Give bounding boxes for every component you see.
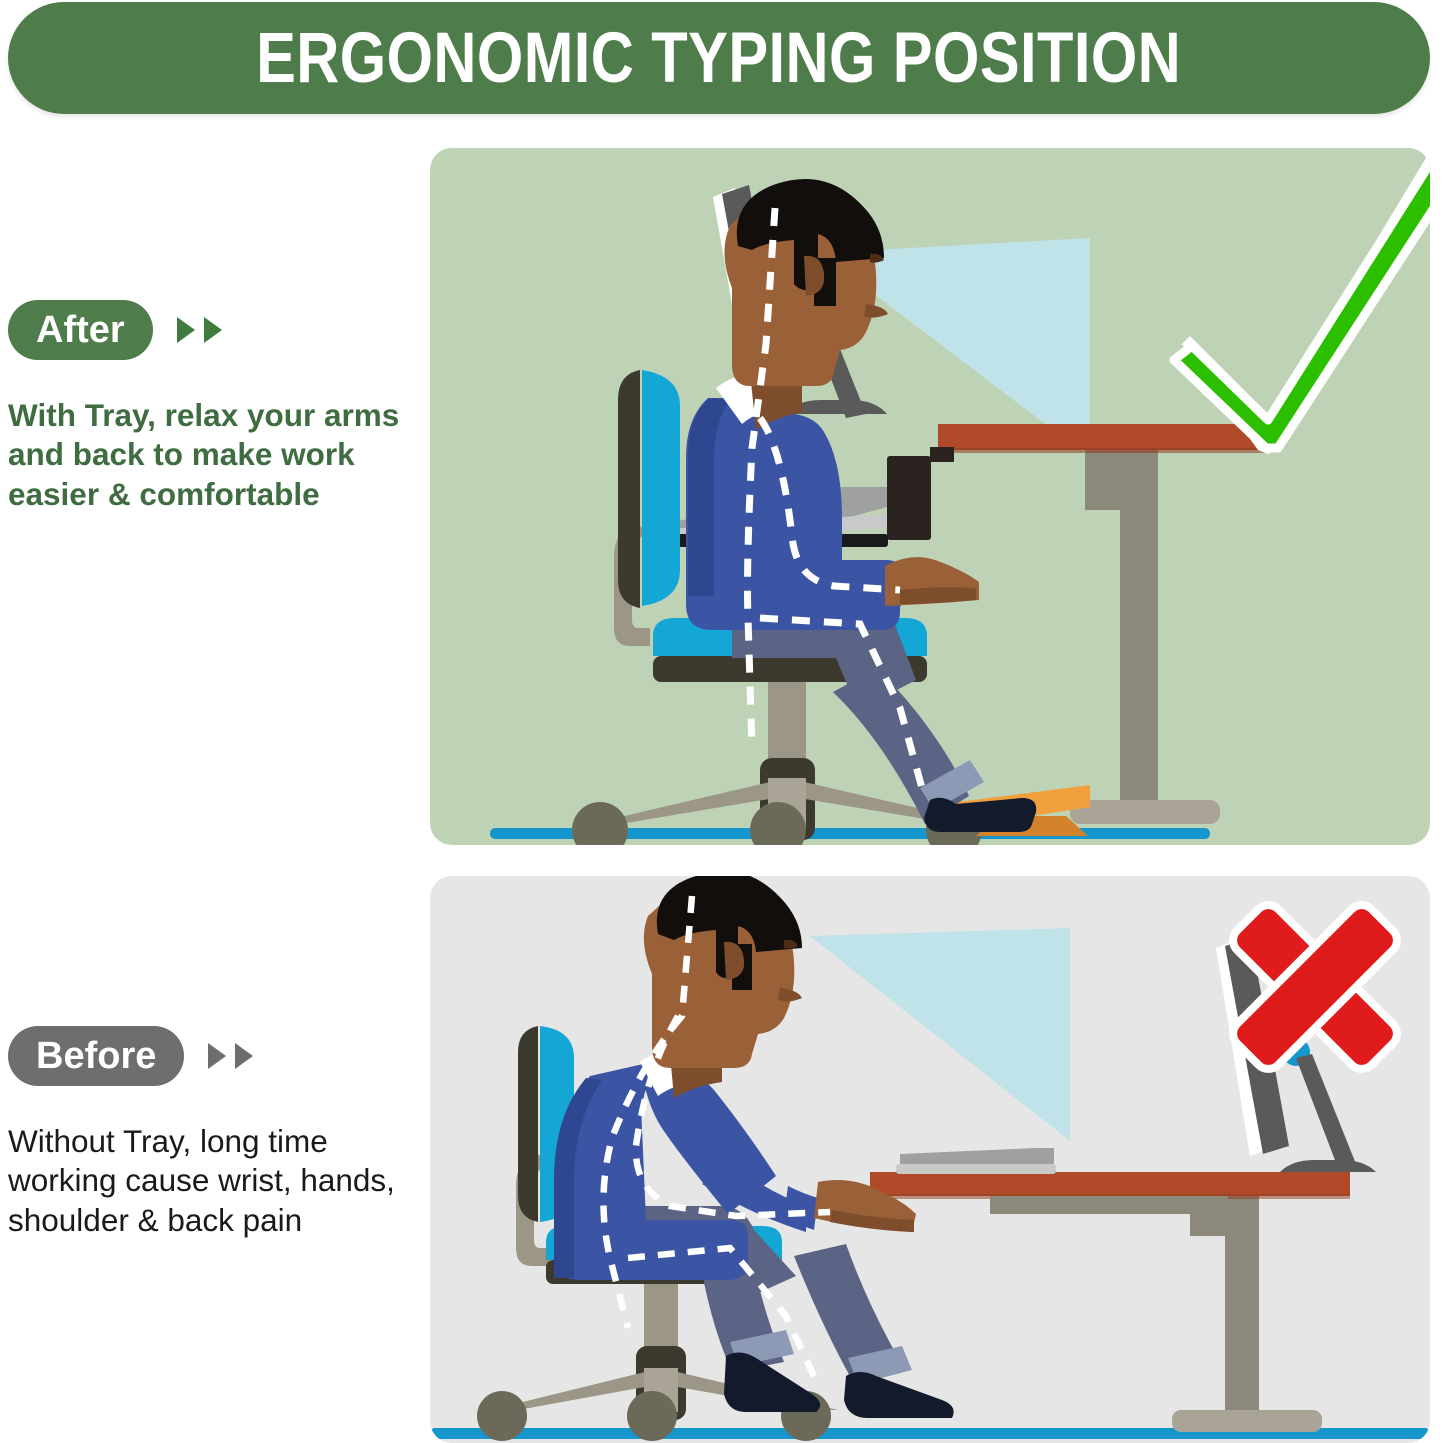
double-triangle-right-icon: [175, 315, 224, 345]
caster-left: [572, 802, 628, 845]
after-description: With Tray, relax your arms and back to m…: [8, 396, 426, 514]
desk-foot: [1070, 800, 1220, 824]
vision-cone: [810, 928, 1070, 1141]
desk-apron: [990, 1196, 1228, 1214]
chair-back-edge: [518, 1026, 538, 1222]
desk-leg-column: [1225, 1196, 1259, 1418]
before-badge: Before: [8, 1026, 184, 1086]
green-check-icon: [1174, 148, 1430, 454]
fingers: [900, 587, 976, 604]
tray-bracket: [930, 447, 954, 462]
desk-top-shadow: [938, 448, 1268, 453]
keyboard-base: [896, 1164, 1056, 1174]
double-triangle-right-icon: [206, 1041, 255, 1071]
check-mark: [1174, 154, 1430, 448]
page-title: ERGONOMIC TYPING POSITION: [256, 23, 1181, 94]
monitor-stand-arm: [1296, 1054, 1356, 1168]
shoe: [924, 798, 1036, 832]
mouth: [864, 304, 888, 318]
chair-gas-cylinder: [768, 682, 806, 764]
before-section-text: Before Without Tray, long time working c…: [8, 1026, 426, 1240]
after-illustration-panel: [430, 148, 1430, 845]
monitor-stand-base: [1280, 1160, 1376, 1172]
before-description: Without Tray, long time working cause wr…: [8, 1122, 426, 1240]
after-badge: After: [8, 300, 153, 360]
before-scene-svg: [430, 876, 1430, 1443]
keyboard-on-desk: [896, 1148, 1056, 1174]
after-section-text: After With Tray, relax your arms and bac…: [8, 300, 426, 514]
before-illustration-panel: [430, 876, 1430, 1443]
desk-top: [938, 424, 1268, 450]
caster-center: [627, 1391, 677, 1441]
desk-top: [870, 1172, 1350, 1196]
after-scene-svg: [430, 148, 1430, 845]
chair-back-edge: [618, 370, 640, 608]
before-pill-row: Before: [8, 1026, 426, 1086]
chair-back-cushion: [642, 370, 680, 606]
desk-foot: [1172, 1410, 1322, 1432]
mouth: [778, 988, 802, 1002]
desk-leg-upper-block: [1085, 448, 1127, 510]
chair-gas-cylinder: [644, 1284, 678, 1352]
caster-left: [477, 1391, 527, 1441]
shoe-front: [844, 1372, 954, 1418]
page-header-banner: ERGONOMIC TYPING POSITION: [8, 2, 1430, 114]
tray-mount-block: [887, 456, 931, 540]
after-pill-row: After: [8, 300, 426, 360]
